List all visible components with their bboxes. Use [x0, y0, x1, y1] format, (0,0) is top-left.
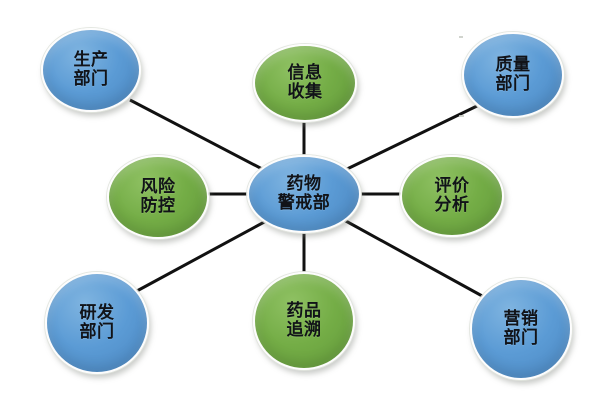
node-label-center: 药物 警戒部 [278, 175, 331, 213]
speck-bottom [459, 115, 464, 117]
node-label-risk-prevention-control: 风险 防控 [141, 178, 176, 216]
node-center[interactable]: 药物 警戒部 [247, 155, 361, 233]
node-rnd-department[interactable]: 研发 部门 [45, 272, 149, 374]
node-quality-department[interactable]: 质量 部门 [462, 32, 564, 118]
node-label-drug-traceability: 药品 追溯 [287, 302, 322, 340]
node-label-quality-department: 质量 部门 [496, 56, 531, 94]
node-production-department[interactable]: 生产 部门 [41, 28, 141, 112]
node-drug-traceability[interactable]: 药品 追溯 [253, 272, 355, 370]
node-label-information-collection: 信息 收集 [288, 64, 323, 102]
node-evaluation-analysis[interactable]: 评价 分析 [400, 155, 504, 237]
node-risk-prevention-control[interactable]: 风险 防控 [107, 155, 209, 239]
speck-top [459, 36, 463, 38]
node-label-rnd-department: 研发 部门 [80, 304, 115, 342]
node-information-collection[interactable]: 信息 收集 [253, 44, 357, 122]
node-label-evaluation-analysis: 评价 分析 [435, 177, 470, 215]
node-label-production-department: 生产 部门 [74, 51, 109, 89]
node-label-marketing-department: 营销 部门 [504, 310, 539, 348]
diagram-canvas: 药物 警戒部生产 部门信息 收集质量 部门风险 防控评价 分析研发 部门药品 追… [0, 0, 600, 400]
node-marketing-department[interactable]: 营销 部门 [470, 278, 572, 380]
